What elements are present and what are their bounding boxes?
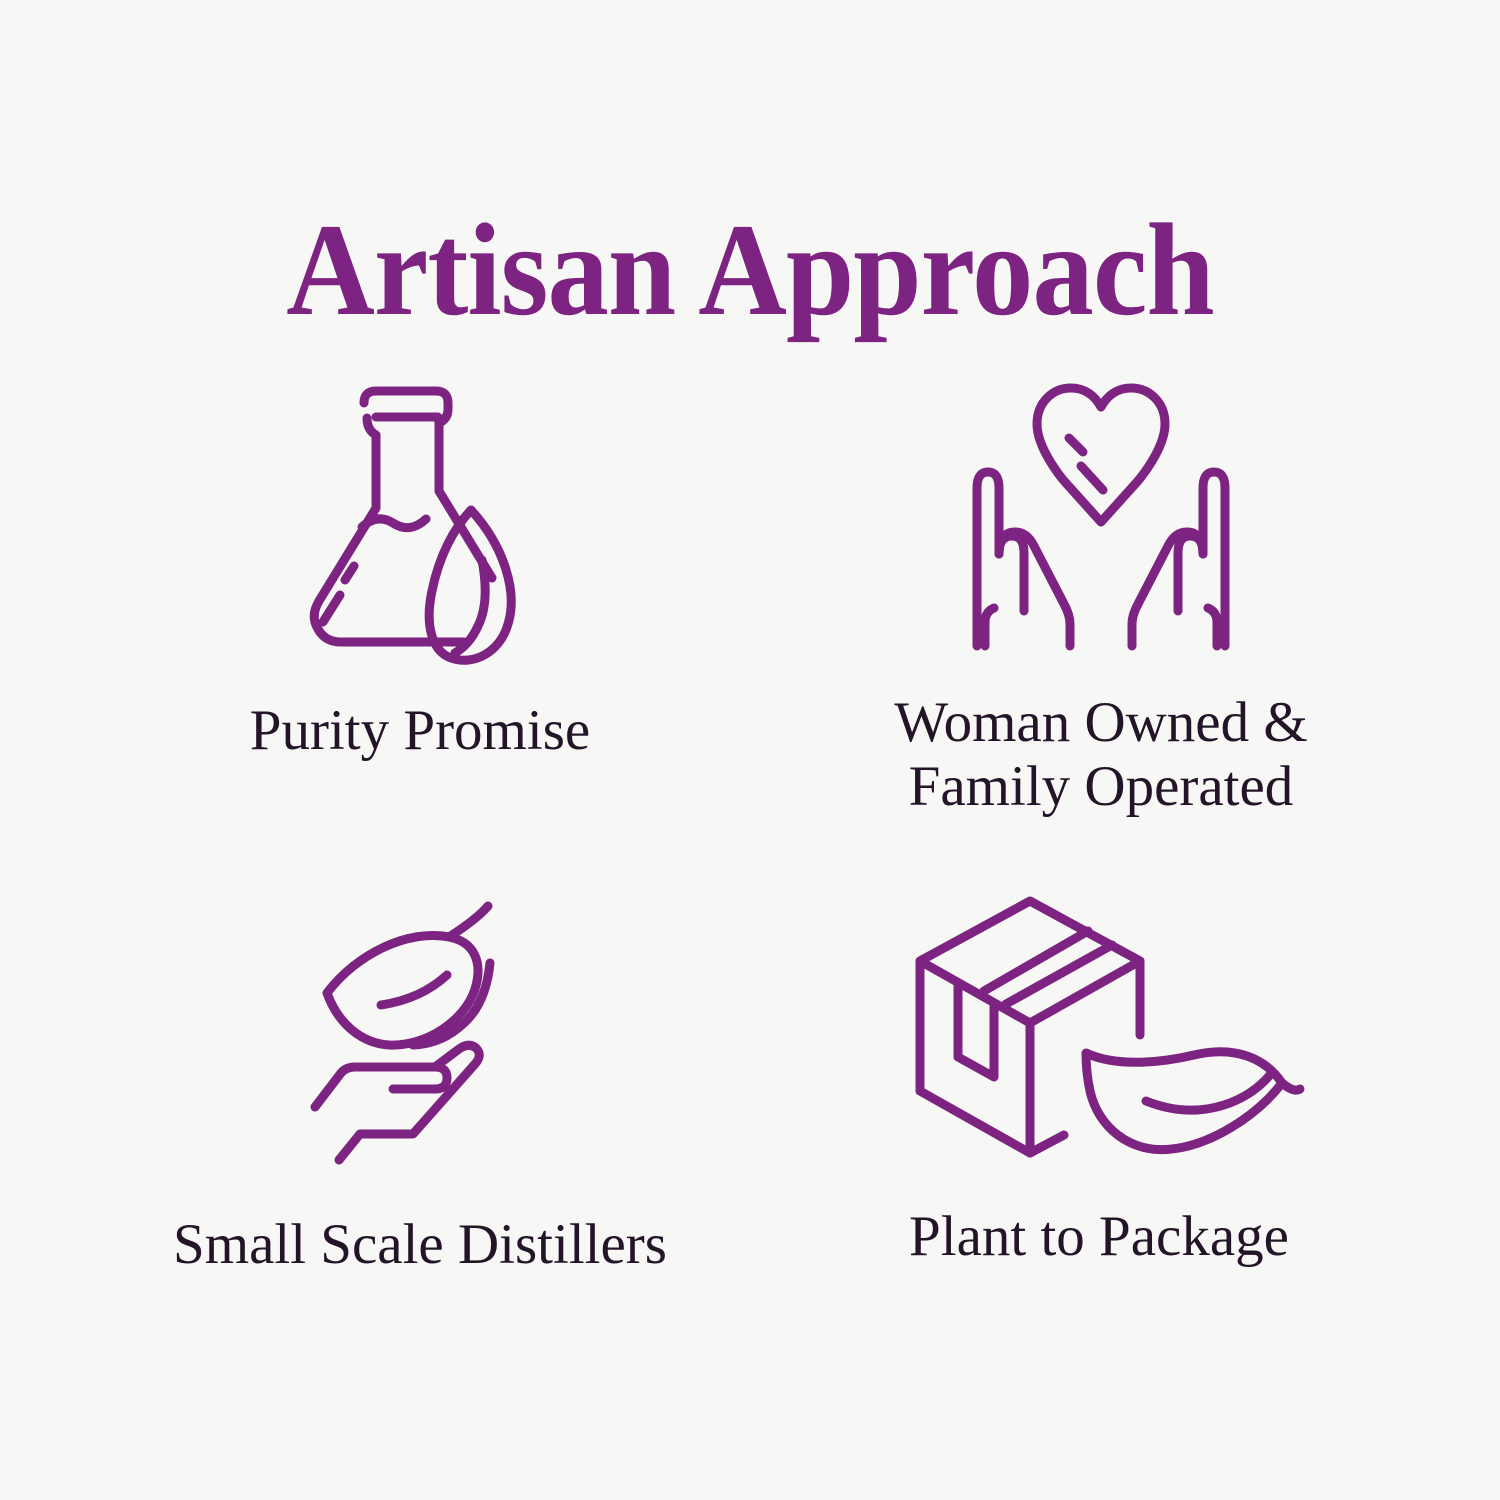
feature-woman-owned-family-operated: Woman Owned & Family Operated	[750, 370, 1410, 865]
flask-leaf-icon	[304, 370, 554, 665]
feature-plant-to-package: Plant to Package	[750, 865, 1410, 1360]
hands-holding-heart-icon	[941, 370, 1261, 655]
feature-label: Purity Promise	[250, 699, 590, 763]
package-box-leaf-icon	[910, 895, 1310, 1165]
leaf-over-open-hand-icon	[309, 901, 539, 1161]
feature-small-scale-distillers: Small Scale Distillers	[90, 865, 750, 1360]
artisan-approach-panel: Artisan Approach	[0, 0, 1500, 1500]
feature-label: Plant to Package	[909, 1205, 1289, 1269]
feature-label: Woman Owned & Family Operated	[894, 691, 1307, 819]
page-title: Artisan Approach	[53, 200, 1448, 340]
feature-label: Small Scale Distillers	[173, 1213, 667, 1277]
feature-purity-promise: Purity Promise	[90, 370, 750, 865]
feature-grid: Purity Promise	[90, 370, 1410, 1360]
